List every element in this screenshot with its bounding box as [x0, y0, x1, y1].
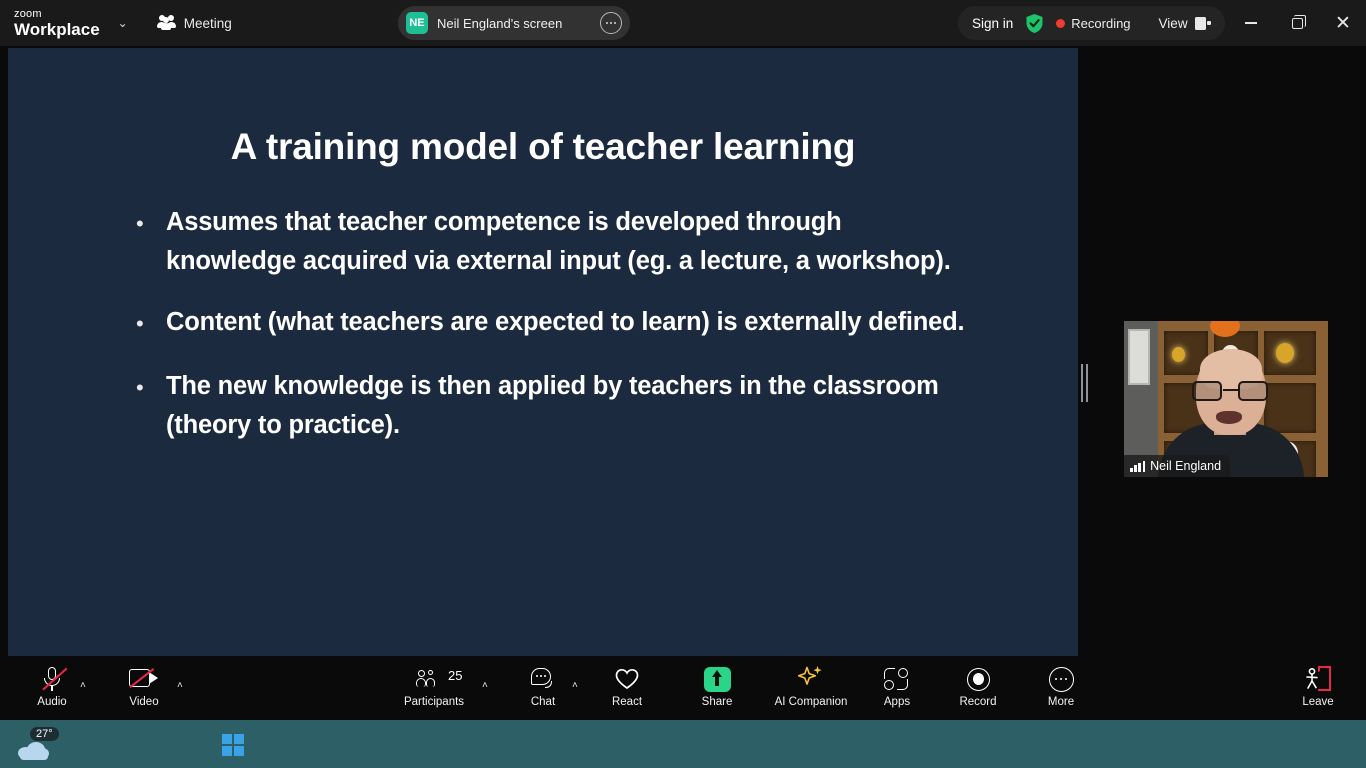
chevron-down-icon[interactable]: ⌄	[118, 16, 128, 30]
meeting-label: Meeting	[184, 16, 232, 31]
toolbar-label-more: More	[1048, 696, 1074, 708]
meeting-tab[interactable]: Meeting	[158, 15, 232, 31]
weather-temperature: 27°	[30, 727, 59, 741]
minimize-button[interactable]	[1228, 0, 1274, 46]
participants-caret-icon[interactable]: ˄	[482, 680, 488, 691]
bullet-marker-icon: •	[136, 203, 166, 281]
toolbar-button-more[interactable]: More	[1025, 664, 1097, 716]
toolbar-label-participants: Participants	[404, 696, 464, 708]
participant-name: Neil England	[1150, 459, 1221, 473]
close-icon: ✕	[1335, 14, 1351, 33]
meeting-stage: A training model of teacher learning • A…	[0, 46, 1366, 658]
start-button[interactable]	[222, 734, 244, 756]
cloud-icon	[18, 742, 50, 760]
toolbar-label-record: Record	[959, 696, 996, 708]
close-button[interactable]: ✕	[1320, 0, 1366, 46]
window-region	[1128, 329, 1150, 385]
people-icon	[158, 15, 176, 31]
more-options-icon[interactable]	[600, 12, 622, 34]
logo-line-zoom: zoom	[14, 9, 100, 20]
toolbar-button-react[interactable]: React	[591, 664, 663, 716]
chat-caret-icon[interactable]: ˄	[572, 680, 578, 691]
participant-video-tile[interactable]: Neil England	[1124, 321, 1328, 477]
recording-label: Recording	[1071, 16, 1130, 31]
bullet-text: Assumes that teacher competence is devel…	[166, 203, 976, 281]
logo-line-workplace: Workplace	[14, 21, 100, 38]
toolbar-button-video[interactable]: Video	[108, 664, 180, 716]
heart-icon	[615, 668, 639, 690]
recording-dot-icon	[1056, 19, 1065, 28]
layout-view-icon	[1195, 17, 1211, 30]
list-item: • Content (what teachers are expected to…	[136, 303, 976, 345]
toolbar-button-record[interactable]: Record	[942, 664, 1014, 716]
shared-screen-title: Neil England's screen	[437, 16, 600, 31]
toolbar-button-apps[interactable]: Apps	[861, 664, 933, 716]
toolbar-label-video: Video	[129, 696, 158, 708]
apps-icon	[884, 668, 910, 690]
zoom-workplace-logo: zoom Workplace	[14, 9, 100, 38]
video-options-caret-icon[interactable]: ˄	[177, 680, 183, 691]
weather-widget[interactable]: 27°	[8, 726, 74, 764]
share-screen-icon	[704, 667, 731, 692]
toolbar-label-apps: Apps	[884, 696, 910, 708]
more-ellipsis-icon	[1049, 667, 1074, 692]
participants-count: 25	[448, 668, 462, 683]
signal-bars-icon	[1130, 461, 1145, 472]
toolbar-button-ai-companion[interactable]: AI Companion	[775, 664, 847, 716]
shared-screen-pill[interactable]: NE Neil England's screen	[398, 6, 630, 40]
sign-in-button[interactable]: Sign in	[972, 16, 1013, 31]
toolbar-label-audio: Audio	[37, 696, 66, 708]
encryption-shield-icon[interactable]	[1025, 13, 1044, 34]
title-bar: zoom Workplace ⌄ Meeting NE Neil England…	[0, 0, 1366, 46]
view-button[interactable]: View	[1159, 16, 1211, 31]
audio-options-caret-icon[interactable]: ˄	[80, 680, 86, 691]
shared-slide[interactable]: A training model of teacher learning • A…	[8, 48, 1078, 656]
list-item: • The new knowledge is then applied by t…	[136, 367, 976, 445]
video-name-badge: Neil England	[1124, 455, 1230, 477]
sparkle-icon	[796, 664, 826, 695]
toolbar-label-ai-companion: AI Companion	[775, 696, 848, 708]
toolbar-label-chat: Chat	[531, 696, 555, 708]
toolbar-label-react: React	[612, 696, 642, 708]
bullet-marker-icon: •	[136, 367, 166, 445]
chat-icon	[531, 668, 555, 690]
bullet-text: Content (what teachers are expected to l…	[166, 303, 964, 345]
topbar-right-group: Sign in Recording View	[958, 6, 1225, 40]
slide-bullet-list: • Assumes that teacher competence is dev…	[136, 203, 976, 467]
recording-indicator[interactable]: Recording	[1056, 16, 1130, 31]
maximize-button[interactable]	[1274, 0, 1320, 46]
leave-door-icon	[1304, 666, 1332, 692]
toolbar-label-share: Share	[702, 696, 733, 708]
toolbar-button-chat[interactable]: Chat	[507, 664, 579, 716]
participants-icon	[416, 670, 438, 688]
camera-muted-icon	[129, 669, 159, 689]
record-icon	[967, 668, 990, 691]
toolbar-button-leave[interactable]: Leave	[1282, 664, 1354, 716]
toolbar-label-leave: Leave	[1302, 696, 1333, 708]
panel-drag-handle[interactable]	[1081, 364, 1090, 402]
windows-taskbar: 27° Search	[0, 720, 1366, 768]
view-label: View	[1159, 16, 1188, 31]
avatar: NE	[406, 12, 428, 34]
bullet-text: The new knowledge is then applied by tea…	[166, 367, 976, 445]
meeting-toolbar: Audio ˄ Video ˄ Participants 25 ˄ Chat ˄	[0, 658, 1366, 720]
list-item: • Assumes that teacher competence is dev…	[136, 203, 976, 281]
microphone-muted-icon	[41, 666, 63, 692]
slide-title: A training model of teacher learning	[8, 126, 1078, 168]
zoom-meeting-window: zoom Workplace ⌄ Meeting NE Neil England…	[0, 0, 1366, 768]
toolbar-button-share[interactable]: Share	[681, 664, 753, 716]
bullet-marker-icon: •	[136, 303, 166, 345]
toolbar-button-audio[interactable]: Audio	[16, 664, 88, 716]
window-controls: ✕	[1228, 0, 1366, 46]
